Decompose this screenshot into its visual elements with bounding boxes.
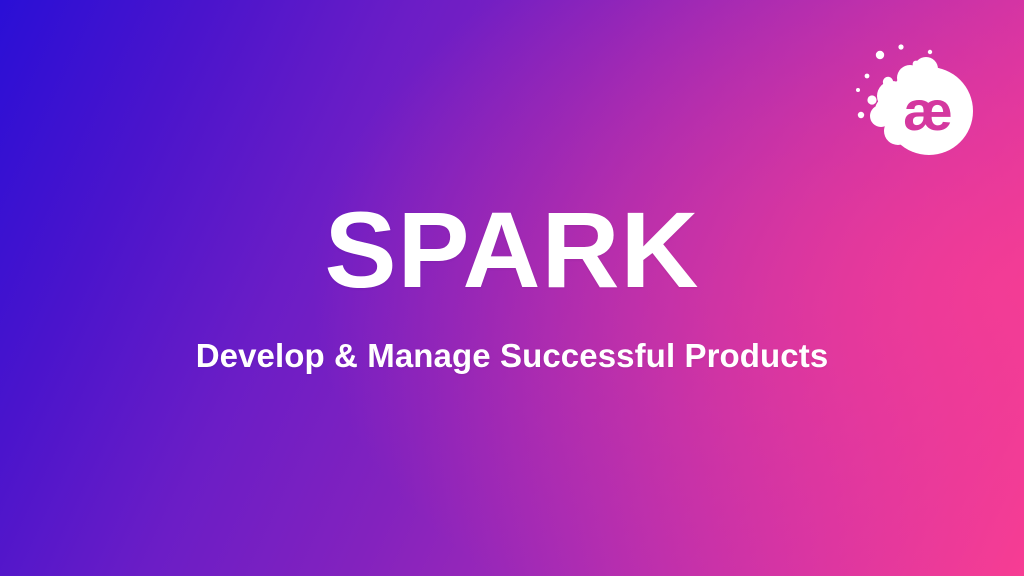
slide-text-block: SPARK Develop & Manage Successful Produc… <box>0 0 1024 576</box>
slide-subtitle: Develop & Manage Successful Products <box>0 336 1024 376</box>
slide-canvas: æ SPARK Develop & Manage Successful Prod… <box>0 0 1024 576</box>
slide-title: SPARK <box>0 196 1024 304</box>
